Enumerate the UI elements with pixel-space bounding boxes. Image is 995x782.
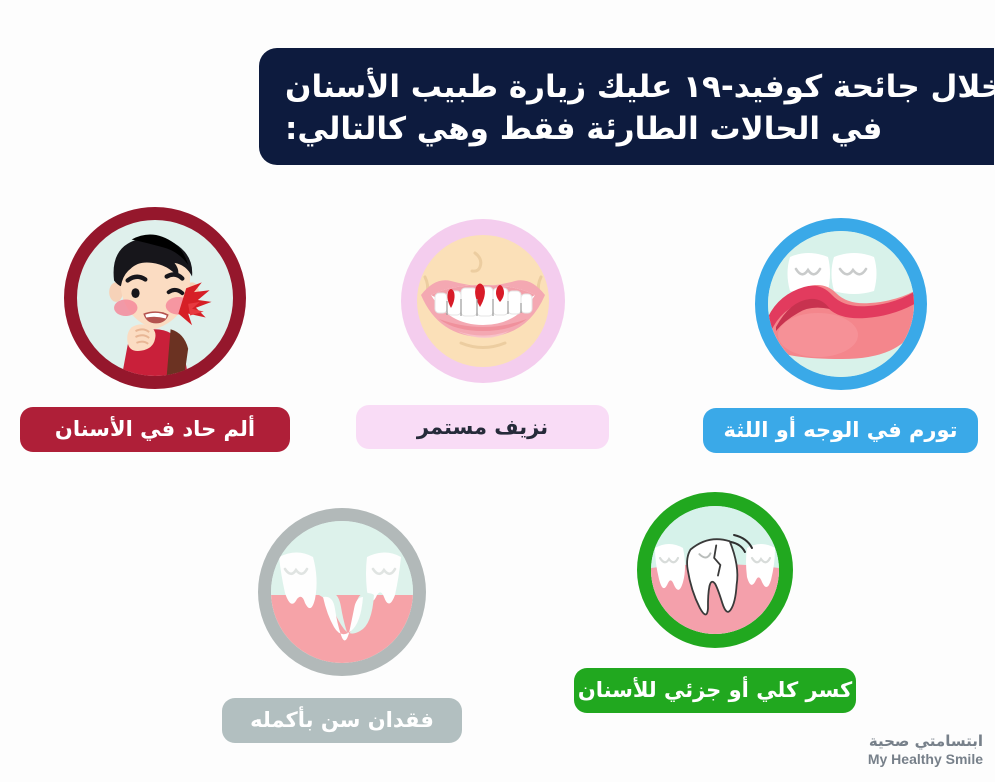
label-pill-toothache: ألم حاد في الأسنان (20, 407, 290, 452)
label-pill-tooth-loss: فقدان سن بأكمله (222, 698, 462, 743)
brand-name-arabic: ابتسامتي صحية (868, 732, 983, 751)
broken-tooth-icon (637, 492, 793, 648)
brand-name-english: My Healthy Smile (868, 751, 983, 769)
card-tooth-loss: فقدان سن بأكمله (222, 508, 462, 743)
brand-logo: ابتسامتي صحية My Healthy Smile (868, 732, 983, 768)
missing-tooth-icon (258, 508, 426, 676)
card-fracture: كسر كلي أو جزئي للأسنان (574, 492, 856, 713)
label-pill-swelling: تورم في الوجه أو اللثة (703, 408, 978, 453)
card-swelling: تورم في الوجه أو اللثة (703, 218, 978, 453)
header-line-1: خلال جائحة كوفيد-١٩ عليك زيارة طبيب الأس… (285, 67, 995, 109)
header-banner: خلال جائحة كوفيد-١٩ عليك زيارة طبيب الأس… (259, 48, 994, 165)
boy-with-toothache-icon (64, 207, 246, 389)
card-toothache: ألم حاد في الأسنان (20, 207, 290, 452)
bleeding-gums-mouth-icon (401, 219, 565, 383)
card-bleeding: نزيف مستمر (356, 219, 609, 449)
infographic-poster: خلال جائحة كوفيد-١٩ عليك زيارة طبيب الأس… (0, 0, 995, 782)
label-pill-bleeding: نزيف مستمر (356, 405, 609, 449)
header-line-2: في الحالات الطارئة فقط وهي كالتالي: (285, 109, 882, 151)
label-pill-fracture: كسر كلي أو جزئي للأسنان (574, 668, 856, 713)
swollen-gum-icon (755, 218, 927, 390)
